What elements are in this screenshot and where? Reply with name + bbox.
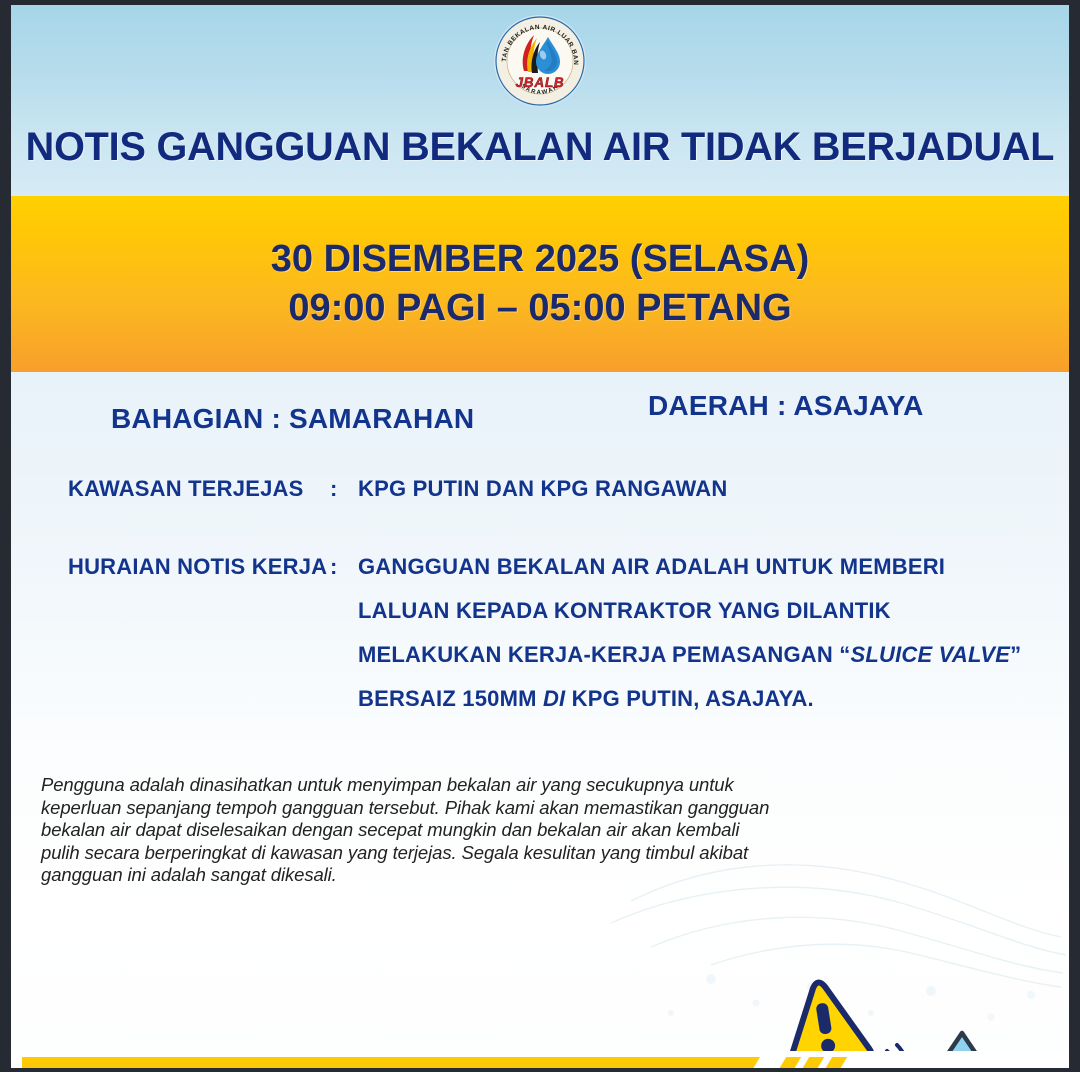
desc-line3-term: SLUICE VALVE xyxy=(850,642,1010,667)
desc-line3-suffix: ” xyxy=(1010,642,1021,667)
work-description-label: HURAIAN NOTIS KERJA xyxy=(68,554,330,580)
advisory-paragraph: Pengguna adalah dinasihatkan untuk menyi… xyxy=(41,774,781,887)
date-band: 30 DISEMBER 2025 (SELASA) 09:00 PAGI – 0… xyxy=(11,196,1069,372)
logo-acronym: JBALB xyxy=(515,75,564,90)
poster-header: JABATAN BEKALAN AIR LUAR BANDAR SARAWAK … xyxy=(11,5,1069,196)
desc-line4-term: DI xyxy=(543,686,565,711)
work-description-line-4: BERSAIZ 150MM DI KPG PUTIN, ASAJAYA. xyxy=(358,686,1021,712)
work-description-line-3: MELAKUKAN KERJA-KERJA PEMASANGAN “SLUICE… xyxy=(358,642,1021,668)
daerah-label: DAERAH : ASAJAYA xyxy=(648,390,924,422)
affected-area-label: KAWASAN TERJEJAS xyxy=(68,476,330,502)
water-droplet-mascot xyxy=(757,973,1069,1051)
work-description-line-2: LALUAN KEPADA KONTRAKTOR YANG DILANTIK xyxy=(358,598,1021,624)
work-description-value: GANGGUAN BEKALAN AIR ADALAH UNTUK MEMBER… xyxy=(358,554,1021,712)
desc-line4-suffix: KPG PUTIN, ASAJAYA. xyxy=(565,686,814,711)
notice-poster: JABATAN BEKALAN AIR LUAR BANDAR SARAWAK … xyxy=(0,0,1080,1072)
warning-sign-icon xyxy=(777,976,872,1051)
notice-details: KAWASAN TERJEJAS : KPG PUTIN DAN KPG RAN… xyxy=(68,476,1029,764)
droplet-body xyxy=(879,1033,1045,1051)
affected-area-value: KPG PUTIN DAN KPG RANGAWAN xyxy=(358,476,727,502)
jbalb-logo-icon: JABATAN BEKALAN AIR LUAR BANDAR SARAWAK … xyxy=(490,11,590,111)
notice-date: 30 DISEMBER 2025 (SELASA) xyxy=(271,238,810,281)
affected-area-colon: : xyxy=(330,476,358,502)
contact-section: HUBUNGI KAMI CALL CENTRE JBALB SARAWAK xyxy=(11,1051,1069,1072)
contact-us-banner: HUBUNGI KAMI xyxy=(22,1057,760,1072)
work-description-colon: : xyxy=(330,554,358,580)
work-description-row: HURAIAN NOTIS KERJA : GANGGUAN BEKALAN A… xyxy=(68,554,1029,712)
notice-body: BAHAGIAN : SAMARAHAN DAERAH : ASAJAYA KA… xyxy=(11,372,1069,1051)
work-description-line-1: GANGGUAN BEKALAN AIR ADALAH UNTUK MEMBER… xyxy=(358,554,1021,580)
contact-us-title: HUBUNGI KAMI xyxy=(293,1065,489,1072)
affected-area-row: KAWASAN TERJEJAS : KPG PUTIN DAN KPG RAN… xyxy=(68,476,1029,502)
desc-line4-prefix: BERSAIZ 150MM xyxy=(358,686,543,711)
jbalb-logo: JABATAN BEKALAN AIR LUAR BANDAR SARAWAK … xyxy=(490,11,590,111)
notice-time: 09:00 PAGI – 05:00 PETANG xyxy=(288,287,791,330)
bahagian-label: BAHAGIAN : SAMARAHAN xyxy=(111,403,474,435)
region-row: BAHAGIAN : SAMARAHAN DAERAH : ASAJAYA xyxy=(11,384,1069,444)
desc-line3-prefix: MELAKUKAN KERJA-KERJA PEMASANGAN “ xyxy=(358,642,850,667)
page-title: NOTIS GANGGUAN BEKALAN AIR TIDAK BERJADU… xyxy=(16,125,1063,170)
